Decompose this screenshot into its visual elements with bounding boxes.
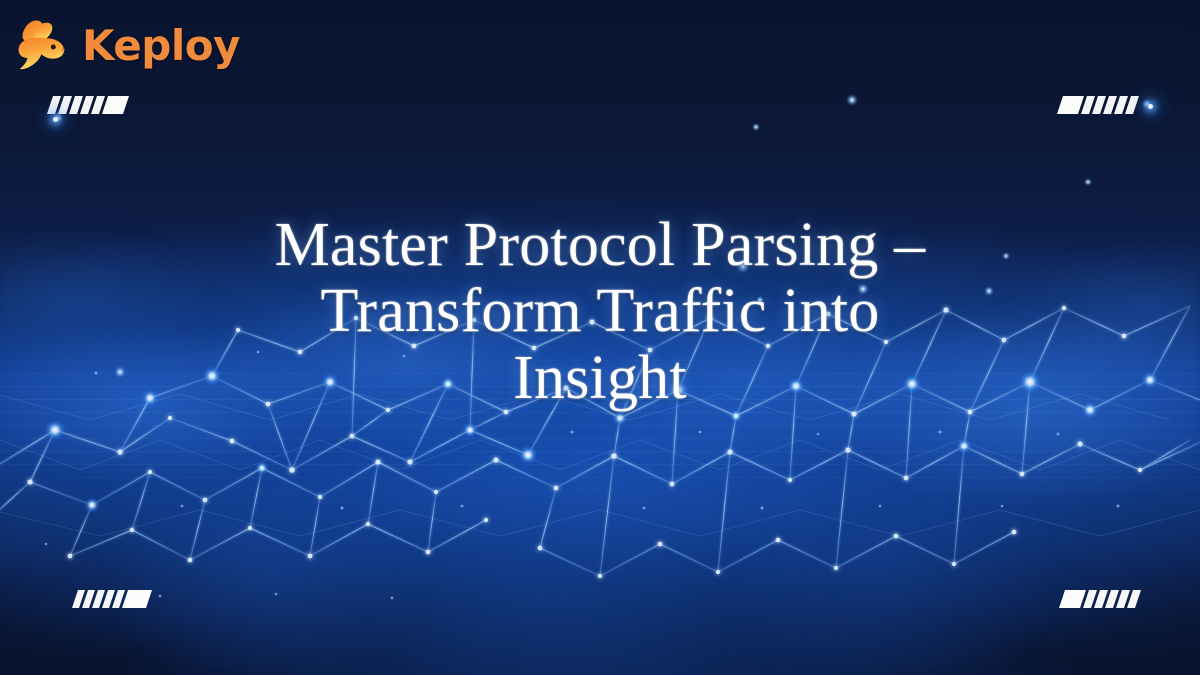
glow-pip-top-left (53, 117, 58, 122)
cover-canvas: Keploy (0, 0, 1200, 675)
title-line-3: Insight (110, 345, 1090, 412)
corner-mark-top-right (1057, 94, 1139, 116)
brand-name: Keploy (82, 25, 240, 67)
page-title: Master Protocol Parsing – Transform Traf… (0, 212, 1200, 413)
corner-mark-bottom-left (72, 588, 152, 610)
title-line-2: Transform Traffic into (110, 278, 1090, 345)
keploy-logo[interactable]: Keploy (14, 18, 240, 74)
glow-pip-top-right (1148, 104, 1153, 109)
corner-mark-bottom-right (1059, 588, 1141, 610)
title-line-1: Master Protocol Parsing – (110, 212, 1090, 279)
rabbit-icon (14, 18, 76, 74)
corner-mark-top-left (47, 94, 129, 116)
